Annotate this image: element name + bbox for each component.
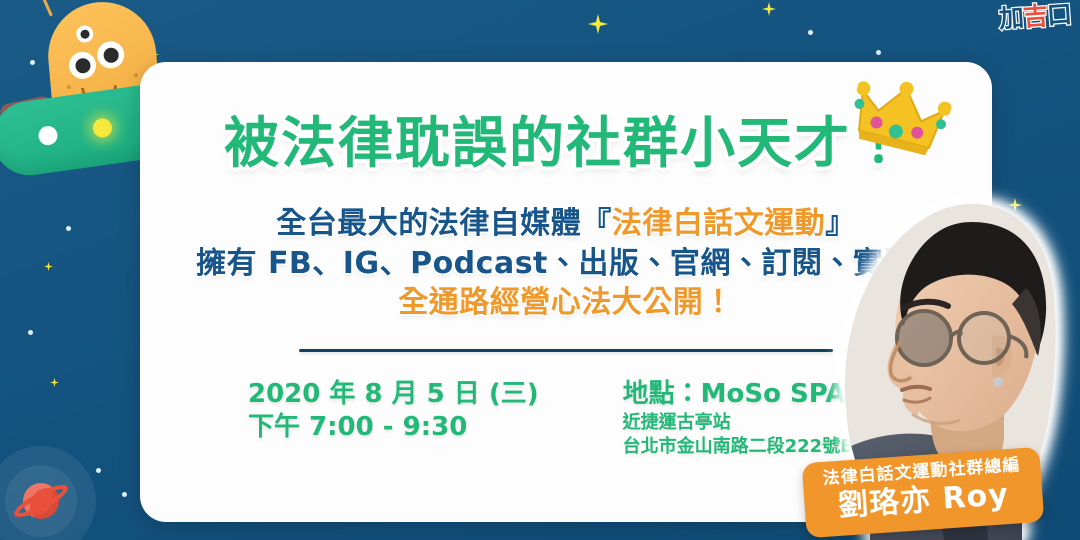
alien-eye-icon [76, 25, 94, 43]
star-dot-icon [66, 226, 71, 231]
section-divider [299, 349, 833, 352]
star-dot-icon [876, 50, 881, 55]
title-row: 被法律耽誤的社群小天才！ [196, 104, 936, 182]
star-dot-icon [808, 30, 813, 35]
event-poster: 加 吉 口 被法律耽誤的社群小天才！ [0, 0, 1080, 540]
star-dot-icon [96, 468, 101, 473]
rocket-light-icon [37, 125, 58, 146]
alien-eye-icon [68, 51, 97, 80]
alien-antenna [40, 0, 53, 17]
subtitle-brand-highlight: 法律白話文運動 [612, 206, 826, 241]
subtitle-bracket-open: 『 [581, 206, 612, 241]
logo-char-1: 加 [998, 5, 1023, 32]
datetime-column: 2020 年 8 月 5 日 (三) 下午 7:00 - 9:30 [248, 378, 539, 459]
brand-logo: 加 吉 口 [998, 2, 1071, 32]
alien-eye-icon [96, 40, 125, 69]
alien-freckle [134, 73, 138, 77]
subtitle-line1-prefix: 全台最大的法律自媒體 [276, 206, 581, 241]
speaker-section: 法律白話文運動社群總編 劉珞亦 Roy [808, 190, 1080, 540]
star-dot-icon [122, 492, 127, 497]
alien-freckle [67, 85, 71, 89]
logo-char-3: 口 [1046, 2, 1071, 29]
event-time: 下午 7:00 - 9:30 [248, 411, 539, 444]
event-date: 2020 年 8 月 5 日 (三) [248, 378, 539, 411]
page-title: 被法律耽誤的社群小天才！ [224, 116, 908, 171]
logo-char-2: 吉 [1022, 3, 1047, 30]
rocket-light-icon [92, 117, 113, 138]
star-dot-icon [28, 330, 33, 335]
